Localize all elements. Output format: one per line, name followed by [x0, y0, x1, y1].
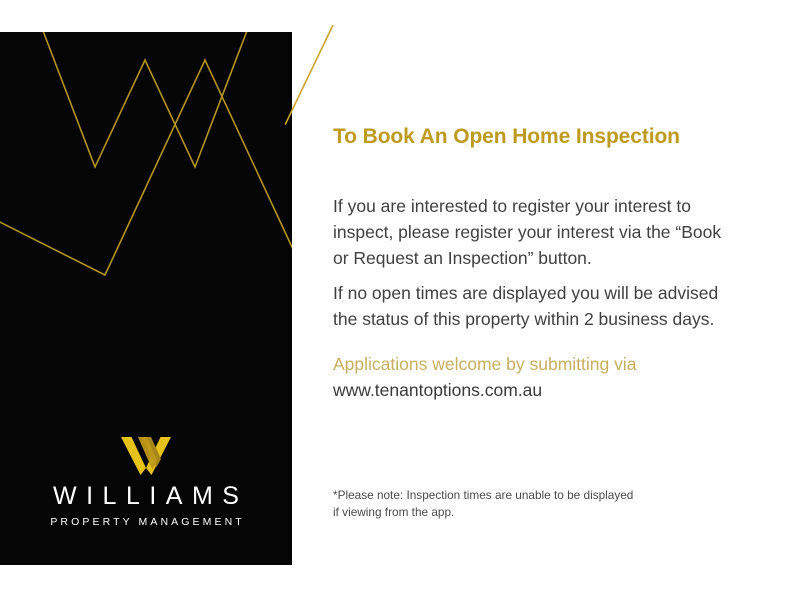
slide-canvas: WILLIAMS PROPERTY MANAGEMENT To Book An … [0, 0, 800, 600]
williams-w-logo-mark [121, 437, 171, 475]
applications-note: Applications welcome by submitting via [333, 351, 636, 377]
instructions-paragraph-2: If no open times are displayed you will … [333, 280, 733, 332]
logo-wordmark: WILLIAMS [0, 483, 292, 509]
logo-lockup: WILLIAMS PROPERTY MANAGEMENT [0, 437, 292, 528]
page-title: To Book An Open Home Inspection [333, 124, 680, 149]
content-column: To Book An Open Home Inspection If you a… [333, 0, 763, 600]
w-linework-decoration [0, 32, 292, 322]
brand-panel: WILLIAMS PROPERTY MANAGEMENT [0, 32, 292, 565]
footnote-line-2: if viewing from the app. [333, 504, 713, 521]
footnote-line-1: *Please note: Inspection times are unabl… [333, 487, 713, 504]
instructions-paragraph-1: If you are interested to register your i… [333, 193, 733, 271]
footnote: *Please note: Inspection times are unabl… [333, 487, 713, 521]
tenant-options-website[interactable]: www.tenantoptions.com.au [333, 377, 542, 403]
logo-tagline: PROPERTY MANAGEMENT [0, 516, 292, 528]
